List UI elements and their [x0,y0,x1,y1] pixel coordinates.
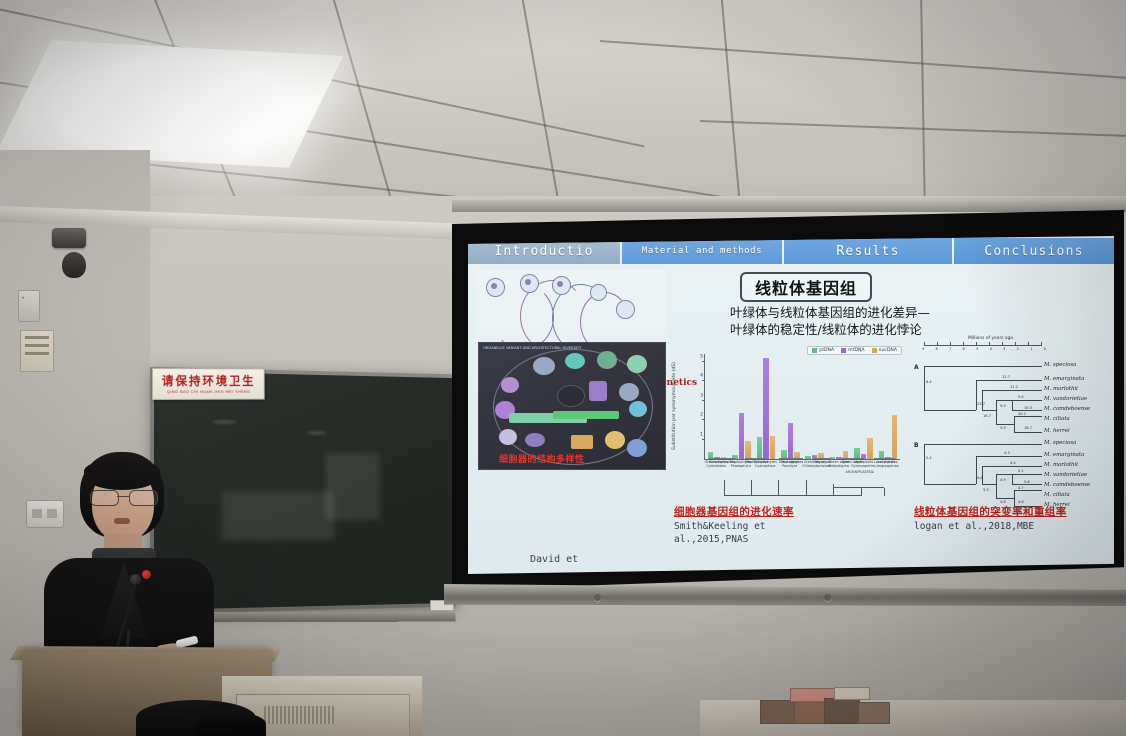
tree-a-node-5: 16.7 [983,414,991,418]
tab-material-and-methods[interactable]: Material and methods [622,238,784,264]
tab-conclusions[interactable]: Conclusions [954,238,1114,264]
light-switch-plate[interactable]: • [18,290,40,322]
bar-group [732,354,751,459]
hygiene-sign: 请保持环境卫生 QING BAO CHI HUAN JING WEI SHENG [152,368,265,400]
tree-a-node-7: 5.4 [1018,395,1024,399]
slide-title: 线粒体基因组 [755,275,857,299]
axis-tick: 7 [949,347,951,351]
glasses-icon [90,490,158,504]
tree-b-node-5: 4.9 [1000,478,1006,482]
figure3-caption: 细胞器基因组的进化速率 Smith&Keeling et al.,2015,PN… [674,504,884,546]
tree-b-node-1: 5.4 [926,456,932,460]
bar-group [708,354,727,459]
classroom-photo: • 请保持环境卫生 QING BAO CHI HUAN JING WEI SHE… [0,0,1126,736]
x-label: Green algaeChlamydomonas [802,460,826,474]
ceiling [0,0,1126,228]
tree-a-node-4: 23.7 [977,402,985,406]
legend-label-mtdna: mtDNA [848,348,864,353]
ytick-2: 2 [700,413,703,418]
axis-tick: 0 [1044,347,1046,351]
tree-axis-title: Millions of years ago [968,336,1013,341]
tree-a-node-9: 30.2 [1018,412,1026,416]
legend-label-nucdna: nucDNA [879,348,897,353]
legend-label-ptdna: ptDNA [819,348,834,353]
tree-axis [924,345,1042,346]
tree-panel-b-label: B [914,442,919,449]
axis-tick: 2 [1017,347,1019,351]
figure-organelle-poster: ORGANELLE VARIANT AND ARCHITECTURAL DIVE… [478,342,666,470]
chart-legend: ptDNA mtDNA nucDNA [807,346,902,355]
tree-a-node-1: 8.4 [926,380,932,384]
tree-a-taxon-2: M. emarginata [1044,376,1084,382]
figure2-caption-en: David et [530,554,578,565]
axis-tick: 4 [990,347,992,351]
x-label: HaptophytesPhaeophyta [729,460,753,474]
tree-b-taxon-1: M. speciosa [1044,440,1076,446]
ytick-5: 5 [700,354,703,359]
mouth [114,518,130,524]
slide-content: Introductio Material and methods Results… [468,236,1114,574]
tab-results[interactable]: Results [784,238,954,264]
x-label: Red algaePorphyra [778,460,802,474]
axis-tick: 3 [1003,347,1005,351]
bar-nucDNA [867,438,873,459]
chart-annotation: ARCHAEPLASTIDA [846,470,875,474]
axis-tick: 9 [922,347,924,351]
bar-nucDNA [892,415,898,459]
bar-group [854,354,873,459]
subtitle-line-1: 叶绿体与线粒体基因组的进化差异— [730,304,1030,321]
speaker-grille [264,706,334,724]
bar-group [805,354,824,459]
slide-subtitle: 叶绿体与线粒体基因组的进化差异— 叶绿体的稳定性/线粒体的进化悖论 [730,304,1030,338]
tree-a-node-10: 16.7 [1024,426,1032,430]
tree-a-node-3: 11.2 [1010,385,1018,389]
slide-title-box: 线粒体基因组 [740,272,872,302]
axis-tick: 6 [963,347,965,351]
axis-tick: 1 [1030,347,1032,351]
tree-b-node-8: 5.3 [983,488,989,492]
bar-mtDNA [788,423,794,459]
tree-b-taxon-5: M. camdeboense [1044,482,1090,488]
tree-b-node-2: 4.3 [1004,451,1010,455]
figure2-caption-cn: 细胞器的结构多样性 [499,452,585,465]
figure3-caption-en-1: Smith&Keeling et [674,520,884,533]
chart-substitution-rates: Substitution per synonymous site (dS) 1 … [674,346,904,496]
ytick-4: 4 [700,374,703,379]
legend-item-nucdna: nucDNA [872,348,897,353]
figure4-caption-cn: 线粒体基因组的突变率和重组率 [914,504,1114,519]
bar-group [879,354,898,459]
audience-head-2 [196,712,266,736]
figure4-caption: 线粒体基因组的突变率和重组率 logan et al.,2018,MBE [914,504,1114,533]
tree-a-node-6: 9.9 [1000,404,1006,408]
figure-phylogenetic-trees: Millions of years ago 9876543210 A [914,336,1110,506]
legend-item-mtdna: mtDNA [841,348,864,353]
tree-a-node-2: 12.7 [1002,375,1010,379]
wall-notice [20,330,54,372]
microphone-head [130,574,141,585]
x-label: GlaucophytesCyanophora [753,460,777,474]
figure3-caption-en-2: al.,2015,PNAS [674,533,884,546]
tree-b-taxon-4: M. vandorietiae [1044,472,1087,478]
tree-b-node-6: 5.1 [1018,469,1024,473]
tree-panel-a-label: A [914,364,919,371]
bar-nucDNA [745,441,751,459]
chart-cladogram [704,476,900,496]
ytick-1: 1 [700,432,703,437]
bar-mtDNA [739,413,745,459]
tree-a-node-8: 10.5 [1024,406,1032,410]
bar-group [781,354,800,459]
tree-b-taxon-6: M. ciliata [1044,492,1070,498]
bar-nucDNA [770,436,776,459]
bar-group [830,354,849,459]
hygiene-sign-pinyin: QING BAO CHI HUAN JING WEI SHENG [167,388,250,393]
fringe [84,460,160,490]
figure4-caption-en: logan et al.,2018,MBE [914,520,1114,533]
x-label: GlaucophytesCyanidiales [704,460,728,474]
tree-a-taxon-3: M. marlothii [1044,386,1078,392]
axis-tick: 5 [976,347,978,351]
tree-a-taxon-6: M. ciliata [1044,416,1070,422]
tree-b-node-7: 5.6 [1024,480,1030,484]
tree-b-taxon-2: M. emarginata [1044,452,1084,458]
ytick-3: 3 [700,393,703,398]
legend-item-ptdna: ptDNA [812,348,834,353]
chart-plot-area: 1 2 3 4 5 [704,354,900,460]
tree-a-taxon-1: M. speciosa [1044,362,1076,368]
book-stack [760,686,890,724]
chart-bars [705,354,900,459]
bar-ptDNA [757,437,763,459]
x-label: Land plantsAngiosperms [876,460,900,474]
bar-group [757,354,776,459]
tree-a-taxon-5: M. camdeboense [1044,406,1090,412]
tree-a-node-11: 3.9 [1000,426,1006,430]
figure3-caption-cn: 细胞器基因组的进化速率 [674,504,884,519]
tree-b-node-9: 4.7 [1018,486,1024,490]
tree-a-taxon-4: M. vandorietiae [1044,396,1087,402]
bar-mtDNA [763,358,769,459]
vent-grille [52,228,86,248]
tree-b-taxon-3: M. marlothii [1044,462,1078,468]
hygiene-sign-cn: 请保持环境卫生 [162,375,256,387]
wall-speaker [62,252,86,278]
tree-axis-ticks: 9876543210 [922,347,1046,351]
tree-b-node-3: 4.4 [1010,461,1016,465]
ceiling-light-panel [0,40,343,168]
tree-b-node-4: 4.8 [977,476,983,480]
axis-tick: 8 [936,347,938,351]
chart-ylabel: Substitution per synonymous site (dS) [672,342,677,450]
lapel-pin [142,570,151,579]
tree-a-taxon-7: M. herrei [1044,428,1070,434]
